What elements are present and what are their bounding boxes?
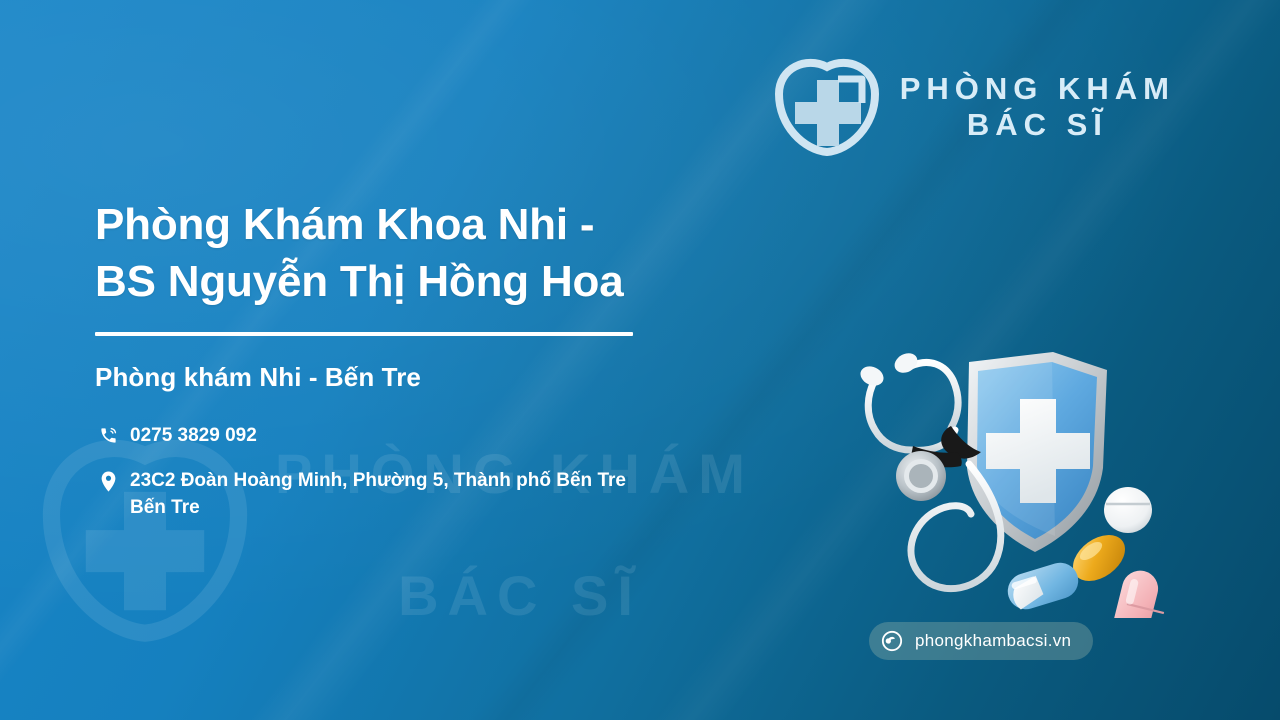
pill-capsule-pink [1108, 567, 1164, 618]
hero-content: Phòng Khám Khoa Nhi - BS Nguyễn Thị Hồng… [95, 196, 855, 540]
address-line1: 23C2 Đoàn Hoàng Minh, Phường 5, Thành ph… [130, 470, 626, 491]
brand-logo-text: PHÒNG KHÁM BÁC SĨ [900, 71, 1175, 143]
medical-cross-shield-icon [772, 58, 882, 156]
address-line2: Bến Tre [130, 495, 626, 522]
clinic-banner: PHÒNG KHÁM BÁC SĨ PHÒNG KHÁM BÁC SĨ Phòn… [0, 0, 1280, 720]
phone-icon-wrap [95, 423, 121, 445]
page-subtitle: Phòng khám Nhi - Bến Tre [95, 362, 855, 393]
brand-logo-line2: BÁC SĨ [967, 107, 1108, 143]
location-icon-wrap [95, 468, 121, 492]
contact-row-phone[interactable]: 0275 3829 092 [95, 423, 855, 450]
brand-logo: PHÒNG KHÁM BÁC SĨ [772, 58, 1175, 156]
phone-icon [99, 426, 118, 445]
brand-logo-line1: PHÒNG KHÁM [900, 71, 1175, 107]
phone-number: 0275 3829 092 [121, 423, 257, 450]
watermark-line2: BÁC SĨ [275, 566, 785, 626]
contact-block: 0275 3829 092 23C2 Đoàn Hoàng Minh, Phườ… [95, 423, 855, 522]
page-title: Phòng Khám Khoa Nhi - BS Nguyễn Thị Hồng… [95, 196, 855, 310]
globe-icon [881, 630, 903, 652]
contact-row-address[interactable]: 23C2 Đoàn Hoàng Minh, Phường 5, Thành ph… [95, 468, 855, 522]
title-divider [95, 332, 633, 336]
address: 23C2 Đoàn Hoàng Minh, Phường 5, Thành ph… [121, 468, 626, 522]
website-badge[interactable]: phongkhambacsi.vn [869, 622, 1093, 660]
stethoscope-earpieces [857, 349, 920, 389]
pill-capsule-blue [1003, 558, 1082, 613]
location-pin-icon [100, 471, 117, 492]
medical-shield-icon [967, 352, 1107, 552]
page-title-line1: Phòng Khám Khoa Nhi - [95, 196, 855, 253]
medical-illustration [845, 318, 1175, 618]
website-url: phongkhambacsi.vn [903, 631, 1071, 651]
page-title-line2: BS Nguyễn Thị Hồng Hoa [95, 253, 855, 310]
stethoscope-chestpiece [896, 451, 946, 501]
pill-tablet-white [1104, 487, 1152, 533]
